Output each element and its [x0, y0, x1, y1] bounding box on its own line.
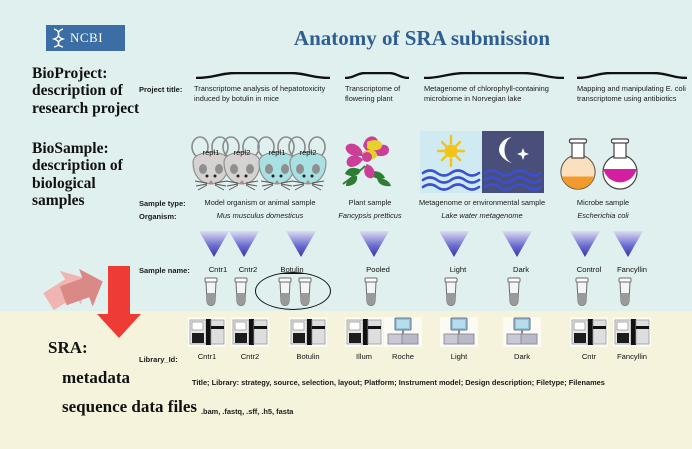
- library-id-value: Roche: [381, 352, 425, 361]
- mouse-icon: repl2: [286, 136, 330, 194]
- organism-text: Mus musculus domesticus: [190, 211, 330, 221]
- sample-name-value: Cntr2: [228, 265, 268, 274]
- sample-name-value: Dark: [501, 265, 541, 274]
- project-title-text: Transcriptome analysis of hepatotoxicity…: [194, 84, 334, 104]
- computer-icon: [503, 317, 541, 347]
- sample-tube-icon: [443, 277, 459, 311]
- organism-text: Fancypsis pretticus: [334, 211, 406, 221]
- sample-name-value: Light: [438, 265, 478, 274]
- library-id-value: Cntr1: [185, 352, 229, 361]
- dna-helix-icon: [52, 28, 65, 48]
- bioproject-row-label: BioProject: description of research proj…: [32, 65, 142, 117]
- library-id-field-label: Library_Id:: [139, 355, 178, 364]
- sample-name-value: Control: [569, 265, 609, 274]
- sample-type-text: Microbe sample: [556, 198, 650, 207]
- other-ncbi-arrows-icon: [30, 262, 155, 342]
- organism-text: Lake water metagenome: [412, 211, 552, 221]
- botulin-group-ellipse: [255, 272, 331, 310]
- funnel-arrow-icon: [570, 231, 600, 257]
- sample-tube-icon: [617, 277, 633, 311]
- project-brace: [577, 72, 687, 79]
- sequencer-icon: [231, 317, 269, 347]
- sequencer-icon: [289, 317, 327, 347]
- sample-type-text: Plant sample: [336, 198, 404, 207]
- funnel-arrow-icon: [229, 231, 259, 257]
- funnel-arrow-icon: [199, 231, 229, 257]
- funnel-arrow-icon: [286, 231, 316, 257]
- sequencer-icon: [570, 317, 608, 347]
- mouse-replicate-label: repl2: [291, 148, 325, 157]
- sample-tube-icon: [506, 277, 522, 311]
- sample-type-field-label: Sample type:: [139, 199, 186, 208]
- library-id-value: Cntr: [567, 352, 611, 361]
- sequencer-icon: [188, 317, 226, 347]
- library-id-value: Botulin: [286, 352, 330, 361]
- sample-tube-icon: [363, 277, 379, 311]
- funnel-arrow-icon: [613, 231, 643, 257]
- sample-name-value: Fancyllin: [612, 265, 652, 274]
- metadata-detail-line: Title; Library: strategy, source, select…: [192, 378, 605, 387]
- library-id-value: Cntr2: [228, 352, 272, 361]
- ncbi-logo[interactable]: NCBI: [46, 25, 125, 51]
- computer-icon: [440, 317, 478, 347]
- sequence-files-row-label: sequence data files: [62, 397, 197, 416]
- computer-icon: [384, 317, 422, 347]
- flower-icon: [337, 132, 403, 194]
- sequencer-icon: [345, 317, 383, 347]
- funnel-arrow-icon: [502, 231, 532, 257]
- sequencer-icon: [613, 317, 651, 347]
- project-title-text: Metagenome of chlorophyll-containing mic…: [424, 84, 570, 104]
- organism-field-label: Organism:: [139, 212, 177, 221]
- page-title: Anatomy of SRA submission: [272, 26, 572, 51]
- sample-tube-icon: [203, 277, 219, 311]
- funnel-arrow-icon: [359, 231, 389, 257]
- project-brace: [196, 72, 330, 79]
- ncbi-logo-text: NCBI: [70, 30, 103, 46]
- sample-tube-icon: [574, 277, 590, 311]
- project-title-text: Mapping and manipulating E. coli transcr…: [577, 84, 692, 104]
- funnel-arrow-icon: [439, 231, 469, 257]
- organism-text: Escherichia coli: [556, 211, 650, 221]
- biosample-row-label: BioSample: description of biological sam…: [32, 140, 142, 209]
- library-id-value: Illum: [342, 352, 386, 361]
- metadata-row-label: metadata: [62, 368, 130, 387]
- poster-canvas: NCBI Anatomy of SRA submission BioProjec…: [0, 0, 692, 449]
- sample-type-text: Model organism or animal sample: [190, 198, 330, 207]
- sequence-files-detail-line: .bam, .fastq, .sff, .h5, fasta: [201, 407, 293, 416]
- library-id-value: Light: [437, 352, 481, 361]
- project-title-text: Transcriptome of flowering plant: [345, 84, 417, 104]
- project-brace: [345, 72, 409, 79]
- flasks-icon: [557, 134, 643, 194]
- project-brace: [424, 72, 564, 79]
- project-title-field-label: Project title:: [139, 85, 182, 94]
- lake-day-icon: [420, 131, 482, 193]
- sample-type-text: Metagenome or environmental sample: [412, 198, 552, 207]
- library-id-value: Dark: [500, 352, 544, 361]
- library-id-value: Fancyllin: [610, 352, 654, 361]
- mouse-replicate-label: repl2: [225, 148, 259, 157]
- lake-night-icon: [482, 131, 544, 193]
- sample-name-value: Pooled: [358, 265, 398, 274]
- sample-tube-icon: [233, 277, 249, 311]
